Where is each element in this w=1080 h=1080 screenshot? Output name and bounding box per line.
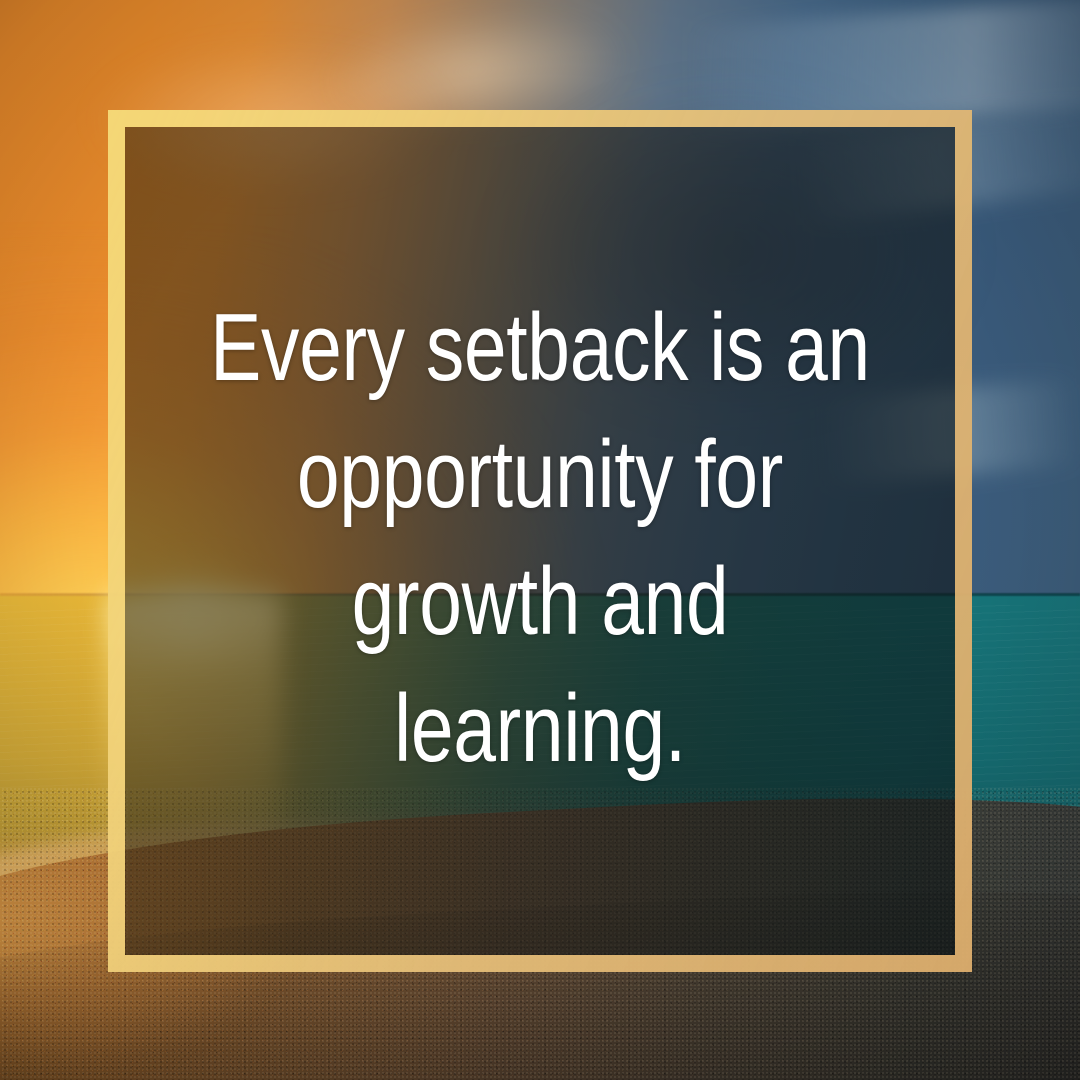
quote-line-1: Every setback is an	[194, 284, 885, 411]
quote-line-2: opportunity for	[194, 411, 885, 538]
quote-text: Every setback is an opportunity for grow…	[194, 284, 885, 792]
quote-line-3: growth and	[194, 538, 885, 665]
quote-line-4: learning.	[194, 665, 885, 792]
quote-card: Every setback is an opportunity for grow…	[0, 0, 1080, 1080]
